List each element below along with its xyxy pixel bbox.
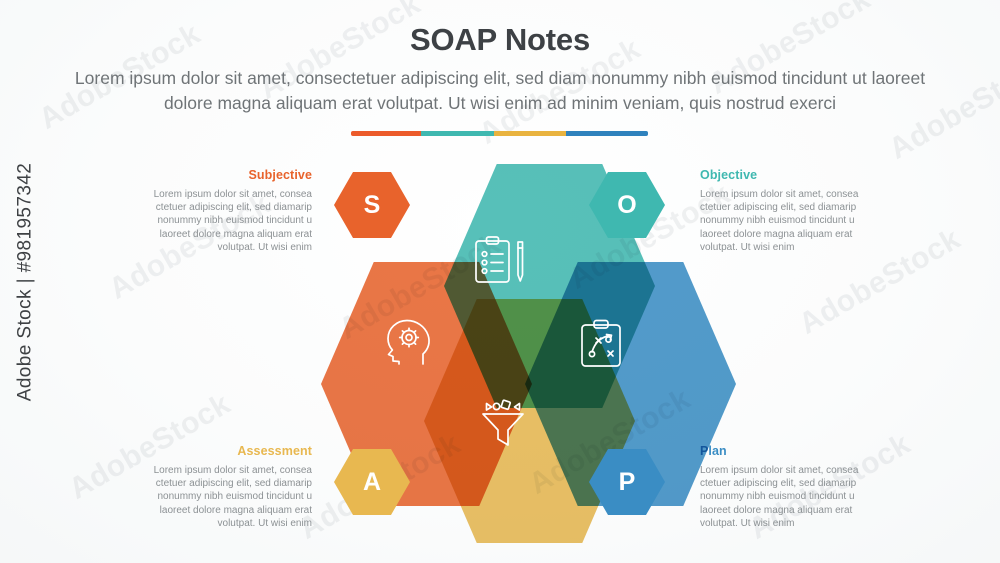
heading-subjective: Subjective xyxy=(142,168,312,182)
heading-objective: Objective xyxy=(700,168,870,182)
divider-segment-plan xyxy=(566,131,648,136)
body-plan: Lorem ipsum dolor sit amet, consea ctetu… xyxy=(700,464,870,530)
heading-plan: Plan xyxy=(700,444,870,458)
badge-letter-p: P xyxy=(619,468,636,497)
watermark-side: Adobe Stock | #981957342 xyxy=(8,0,42,563)
body-objective: Lorem ipsum dolor sit amet, consea ctetu… xyxy=(700,188,870,254)
badge-letter-a: A xyxy=(363,468,381,497)
divider-segment-assessment xyxy=(494,131,566,136)
watermark-side-text: Adobe Stock | #981957342 xyxy=(14,162,36,401)
divider-segment-subjective xyxy=(351,131,421,136)
page-title: SOAP Notes xyxy=(0,22,1000,58)
body-assessment: Lorem ipsum dolor sit amet, consea ctetu… xyxy=(142,464,312,530)
text-block-plan: Plan Lorem ipsum dolor sit amet, consea … xyxy=(700,444,870,530)
divider-segment-objective xyxy=(421,131,494,136)
text-block-objective: Objective Lorem ipsum dolor sit amet, co… xyxy=(700,168,870,254)
body-subjective: Lorem ipsum dolor sit amet, consea ctetu… xyxy=(142,188,312,254)
badge-subjective[interactable]: S xyxy=(334,172,410,238)
color-divider-bar xyxy=(351,131,648,136)
page-subtitle: Lorem ipsum dolor sit amet, consectetuer… xyxy=(60,66,940,116)
badge-letter-o: O xyxy=(617,191,636,220)
heading-assessment: Assessment xyxy=(142,444,312,458)
text-block-subjective: Subjective Lorem ipsum dolor sit amet, c… xyxy=(142,168,312,254)
badge-letter-s: S xyxy=(364,191,381,220)
text-block-assessment: Assessment Lorem ipsum dolor sit amet, c… xyxy=(142,444,312,530)
infographic-canvas: AdobeStock AdobeStock AdobeStock AdobeSt… xyxy=(0,0,1000,563)
